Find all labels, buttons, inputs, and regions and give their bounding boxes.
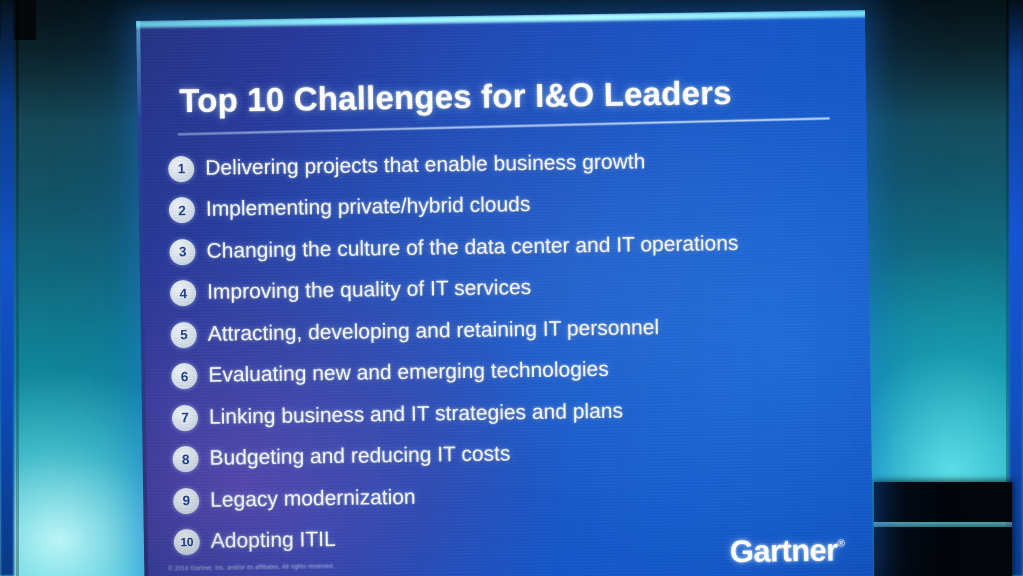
list-item-label: Adopting ITIL xyxy=(211,528,336,554)
list-item-label: Changing the culture of the data center … xyxy=(206,232,738,264)
challenges-list: 1 Delivering projects that enable busine… xyxy=(168,138,853,563)
list-item-label: Implementing private/hybrid clouds xyxy=(206,193,531,222)
list-item-label: Improving the quality of IT services xyxy=(207,276,531,305)
bullet-number-icon: 7 xyxy=(172,405,198,431)
av-equipment-upper xyxy=(874,482,1012,522)
title-divider-rule xyxy=(178,117,830,135)
list-item-label: Linking business and IT strategies and p… xyxy=(209,399,623,429)
registered-trademark-icon: ® xyxy=(837,538,845,549)
list-item-label: Attracting, developing and retaining IT … xyxy=(208,316,660,347)
bullet-number-icon: 1 xyxy=(168,156,194,182)
projection-screen: Top 10 Challenges for I&O Leaders 1 Deli… xyxy=(136,10,873,576)
conference-room-photo: Top 10 Challenges for I&O Leaders 1 Deli… xyxy=(0,0,1023,576)
bullet-number-icon: 4 xyxy=(170,280,196,306)
av-equipment-lower xyxy=(874,527,1012,576)
list-item-label: Legacy modernization xyxy=(210,485,416,512)
wall-seam-left xyxy=(16,0,19,576)
blue-light-strip-left xyxy=(0,0,14,576)
bullet-number-icon: 5 xyxy=(171,322,197,348)
list-item-label: Evaluating new and emerging technologies xyxy=(208,358,609,388)
bullet-number-icon: 9 xyxy=(173,488,199,514)
bullet-number-icon: 8 xyxy=(172,446,198,472)
gartner-logo: Gartner® xyxy=(730,532,846,570)
copyright-footer: © 2014 Gartner, Inc. and/or its affiliat… xyxy=(168,564,334,572)
gartner-logo-text: Gartner xyxy=(730,532,838,569)
bullet-number-icon: 10 xyxy=(174,529,200,555)
slide-content: Top 10 Challenges for I&O Leaders 1 Deli… xyxy=(136,10,873,576)
bullet-number-icon: 3 xyxy=(169,239,195,265)
bullet-number-icon: 6 xyxy=(171,363,197,389)
list-item-label: Budgeting and reducing IT costs xyxy=(209,443,510,471)
list-item-label: Delivering projects that enable business… xyxy=(205,150,645,181)
bullet-number-icon: 2 xyxy=(169,197,195,223)
slide-title: Top 10 Challenges for I&O Leaders xyxy=(179,74,732,120)
